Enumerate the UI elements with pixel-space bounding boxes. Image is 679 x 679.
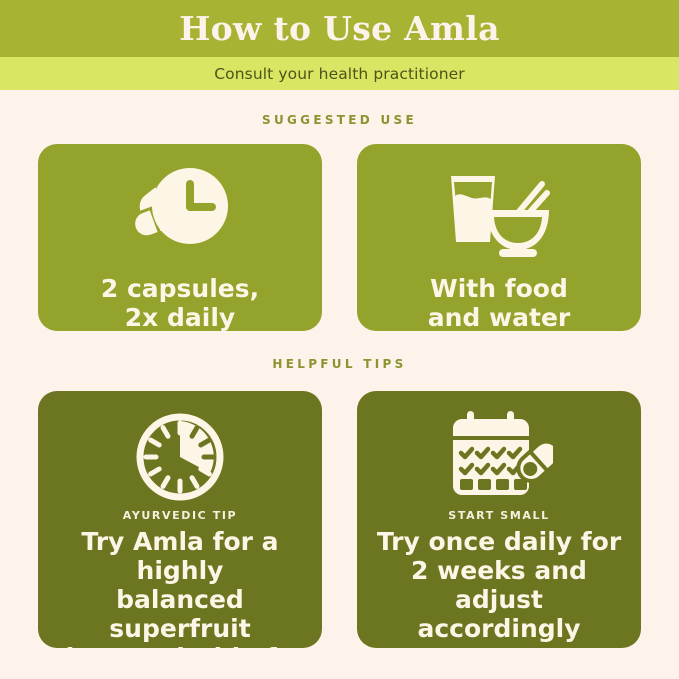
card-text: Try once daily for 2 weeks and adjust ac… [357, 527, 641, 643]
clock-dial-icon [132, 409, 228, 505]
card-ayurvedic-tip[interactable]: AYURVEDIC TIP Try Amla for a highly bala… [38, 391, 322, 648]
clock-with-capsules-icon [128, 166, 232, 262]
glass-and-bowl-icon [443, 166, 555, 262]
card-start-small[interactable]: START SMALL Try once daily for 2 weeks a… [357, 391, 641, 648]
card-suggested-dose[interactable]: 2 capsules, 2x daily [38, 144, 322, 331]
card-text: With food and water [428, 274, 570, 331]
card-with-food-and-water[interactable]: With food and water [357, 144, 641, 331]
card-eyebrow: START SMALL [448, 509, 549, 522]
calendar-with-capsule-icon [445, 409, 553, 505]
header-band: How to Use Amla [0, 0, 679, 57]
page-title: How to Use Amla [179, 12, 500, 45]
card-text: 2 capsules, 2x daily [101, 274, 259, 331]
infographic-page: How to Use Amla Consult your health prac… [0, 0, 679, 679]
subheader-band: Consult your health practitioner [0, 57, 679, 90]
subtitle: Consult your health practitioner [214, 65, 465, 83]
section-label-suggested-use: SUGGESTED USE [0, 113, 679, 127]
section-label-helpful-tips: HELPFUL TIPS [0, 357, 679, 371]
card-eyebrow: AYURVEDIC TIP [123, 509, 237, 522]
card-text: Try Amla for a highly balanced superfrui… [38, 527, 322, 648]
